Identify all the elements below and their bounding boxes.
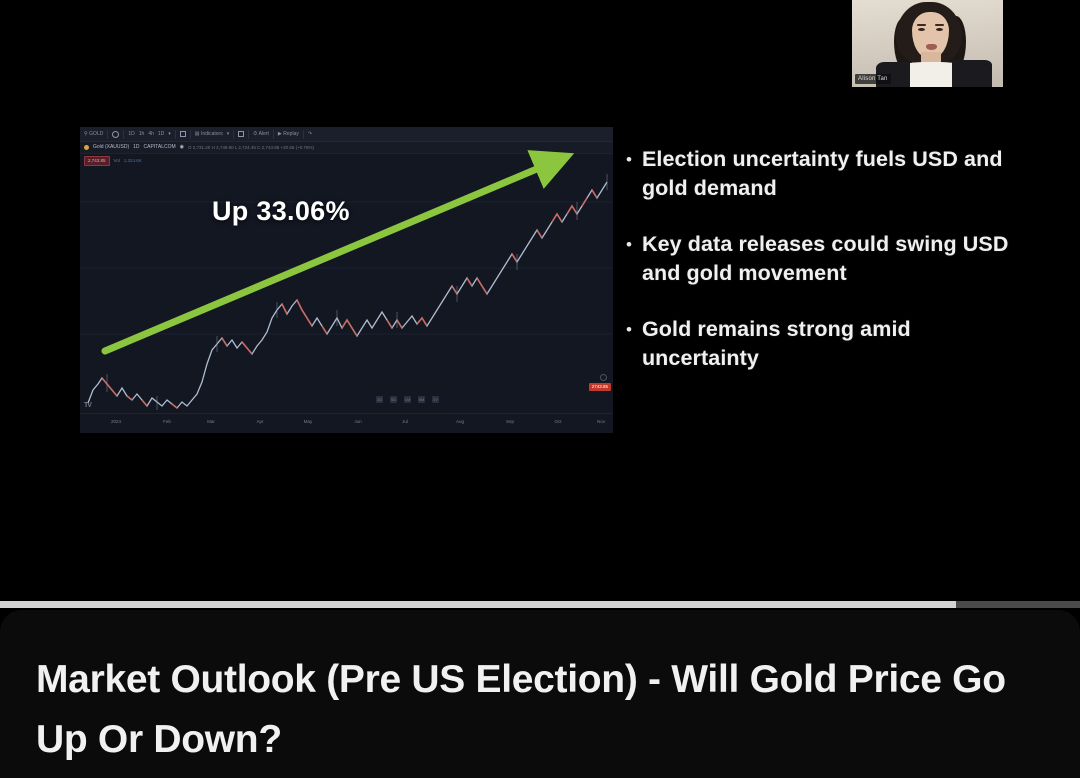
- bullet-text: Gold remains strong amid uncertainty: [642, 315, 1026, 373]
- chart-legend: 2,743.85 Vol 1,324.6K: [84, 156, 142, 166]
- replay-label: Replay: [283, 131, 299, 138]
- chart-toolbar[interactable]: ⚲ GOLD 1D 1h 4h 1D ▾ ▤ Indicators ▾: [80, 127, 613, 142]
- toolbar-divider: [190, 130, 191, 139]
- axis-tick-1: Feb: [163, 418, 171, 425]
- symbol-ohlc: O 2,731.20 H 2,749.90 L 2,724.45 C 2,743…: [188, 144, 314, 151]
- bullet-marker-icon: •: [626, 230, 632, 288]
- webcam-name-label: Alison Tan: [855, 74, 891, 84]
- range-button-1y[interactable]: 1Y: [432, 396, 439, 403]
- avatar-jacket-right: [952, 60, 992, 87]
- bullet-marker-icon: •: [626, 145, 632, 203]
- range-button-1d[interactable]: 1D: [376, 396, 383, 403]
- list-item: • Election uncertainty fuels USD and gol…: [626, 145, 1026, 203]
- avatar-eye-left: [918, 28, 925, 31]
- current-price-tag: 2743.85: [589, 383, 611, 391]
- eye-icon[interactable]: ◉: [180, 144, 184, 151]
- percent-gain-annotation: Up 33.06%: [212, 196, 350, 227]
- interval-button-3[interactable]: 1D: [158, 131, 164, 138]
- toolbar-divider: [123, 130, 124, 139]
- indicators-label: Indicators: [201, 131, 223, 138]
- axis-tick-3: Apr: [256, 418, 263, 425]
- avatar-mouth: [926, 44, 937, 50]
- axis-tick-9: Oct: [554, 418, 561, 425]
- toolbar-divider: [248, 130, 249, 139]
- legend-vol-label: Vol: [114, 157, 120, 165]
- search-icon: ⚲: [84, 131, 88, 138]
- video-progress-bar[interactable]: [0, 601, 1080, 608]
- tradingview-logo: TV: [84, 402, 91, 409]
- toolbar-divider: [273, 130, 274, 139]
- symbol-exchange: CAPITALCOM: [144, 144, 176, 151]
- list-item: • Key data releases could swing USD and …: [626, 230, 1026, 288]
- symbol-name: Gold (XAUUSD): [93, 144, 129, 151]
- bullet-text: Election uncertainty fuels USD and gold …: [642, 145, 1026, 203]
- bell-icon: ⏱: [253, 131, 257, 138]
- indicators-icon: ▤: [195, 131, 200, 138]
- chart-clock-icon[interactable]: [600, 374, 607, 381]
- page-title: Market Outlook (Pre US Election) - Will …: [36, 650, 1036, 770]
- chart-range-buttons[interactable]: 1D 5D 1M 6M 1Y: [376, 396, 439, 403]
- range-button-5d[interactable]: 5D: [390, 396, 397, 403]
- toolbar-divider: [175, 130, 176, 139]
- tradingview-chart-card[interactable]: ⚲ GOLD 1D 1h 4h 1D ▾ ▤ Indicators ▾: [80, 127, 613, 433]
- video-progress-fill[interactable]: [0, 601, 956, 608]
- chevron-down-icon[interactable]: ▾: [168, 131, 171, 138]
- symbol-search-value: GOLD: [89, 131, 103, 138]
- undo-icon[interactable]: ↷: [308, 131, 312, 138]
- bullet-marker-icon: •: [626, 315, 632, 373]
- chart-time-axis[interactable]: 2024 Feb Mar Apr May Jun Jul Aug Sep Oct…: [80, 413, 613, 433]
- axis-tick-2: Mar: [207, 418, 215, 425]
- replay-button[interactable]: ▶ Replay: [278, 131, 299, 138]
- video-info-panel: Market Outlook (Pre US Election) - Will …: [0, 610, 1080, 778]
- axis-tick-4: May: [304, 418, 313, 425]
- symbol-interval: 1D: [133, 144, 139, 151]
- chart-symbol-bar[interactable]: Gold (XAUUSD) 1D CAPITALCOM ◉ O 2,731.20…: [80, 142, 613, 154]
- candle-type-icon[interactable]: [180, 131, 186, 137]
- video-player-page: Alison Tan ⚲ GOLD 1D 1h 4h 1D ▾: [0, 0, 1080, 778]
- axis-tick-6: Jul: [402, 418, 408, 425]
- chevron-down-icon[interactable]: ▾: [227, 131, 230, 138]
- axis-tick-10: Nov: [597, 418, 605, 425]
- symbol-status-dot: [84, 145, 89, 150]
- avatar-eyebrow-left: [917, 24, 926, 26]
- video-frame[interactable]: Alison Tan ⚲ GOLD 1D 1h 4h 1D ▾: [0, 0, 1080, 600]
- range-button-6m[interactable]: 6M: [418, 396, 425, 403]
- axis-tick-5: Jun: [354, 418, 361, 425]
- toolbar-divider: [107, 130, 108, 139]
- legend-vol-value: 1,324.6K: [124, 157, 142, 165]
- bullet-text: Key data releases could swing USD and go…: [642, 230, 1026, 288]
- layout-icon[interactable]: [238, 131, 244, 137]
- list-item: • Gold remains strong amid uncertainty: [626, 315, 1026, 373]
- interval-button-1[interactable]: 1h: [139, 131, 145, 138]
- range-button-1m[interactable]: 1M: [404, 396, 411, 403]
- symbol-search-field[interactable]: ⚲ GOLD: [84, 131, 103, 138]
- clock-icon[interactable]: [112, 131, 119, 138]
- webcam-overlay[interactable]: Alison Tan: [852, 0, 1003, 87]
- legend-price-badge: 2,743.85: [84, 156, 110, 166]
- indicators-button[interactable]: ▤ Indicators: [195, 131, 223, 138]
- candle-wicks: [107, 174, 607, 410]
- interval-button-2[interactable]: 4h: [148, 131, 154, 138]
- slide-bullet-list: • Election uncertainty fuels USD and gol…: [626, 145, 1026, 400]
- toolbar-divider: [303, 130, 304, 139]
- toolbar-divider: [233, 130, 234, 139]
- alert-label: Alert: [259, 131, 269, 138]
- avatar-eye-right: [936, 28, 943, 31]
- axis-tick-8: Sep: [506, 418, 514, 425]
- axis-tick-7: Aug: [456, 418, 464, 425]
- replay-icon: ▶: [278, 131, 282, 138]
- axis-tick-0: 2024: [111, 418, 121, 425]
- avatar-eyebrow-right: [935, 24, 944, 26]
- alert-button[interactable]: ⏱ Alert: [253, 131, 269, 138]
- interval-button-0[interactable]: 1D: [128, 131, 134, 138]
